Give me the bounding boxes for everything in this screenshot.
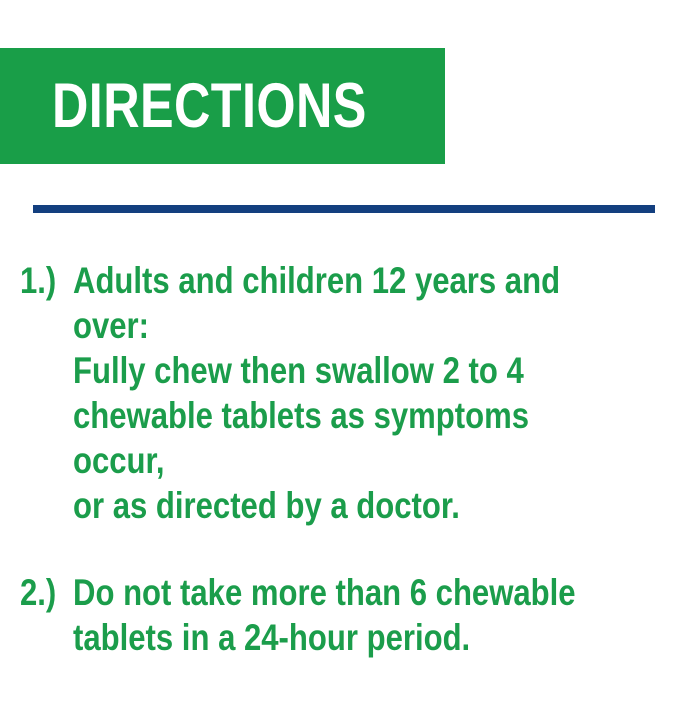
page-title: DIRECTIONS xyxy=(52,62,356,150)
list-item: 1.) Adults and children 12 years and ove… xyxy=(20,258,680,528)
directions-list: 1.) Adults and children 12 years and ove… xyxy=(20,258,680,702)
list-item-marker: 2.) xyxy=(20,570,65,615)
list-item: 2.) Do not take more than 6 chewable tab… xyxy=(20,570,680,660)
divider-rule xyxy=(33,205,655,213)
directions-panel: DIRECTIONS 1.) Adults and children 12 ye… xyxy=(0,0,700,700)
list-item-text: Do not take more than 6 chewable tablets… xyxy=(73,570,583,660)
list-item-marker: 1.) xyxy=(20,258,65,303)
list-item-text: Adults and children 12 years and over: F… xyxy=(73,258,583,528)
